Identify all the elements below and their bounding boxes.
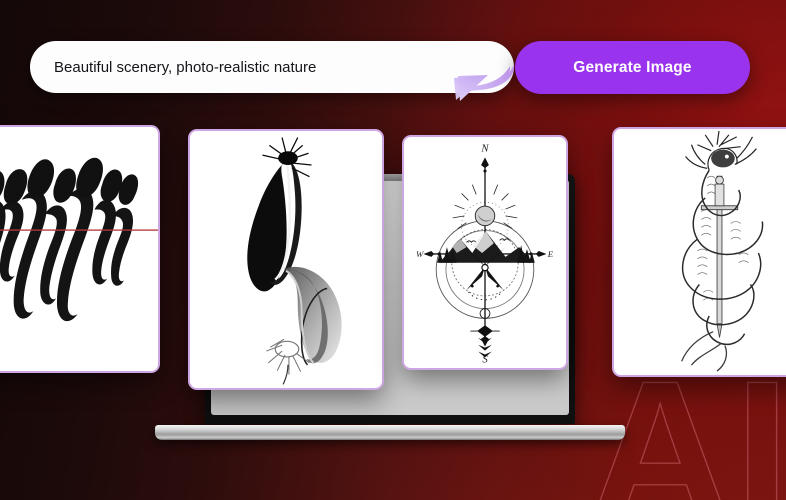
svg-text:W: W — [416, 249, 424, 259]
gallery-card-dragon[interactable] — [612, 127, 786, 377]
compass-mountain-tattoo-icon: N S W E — [404, 137, 566, 368]
gallery-card-amore[interactable] — [0, 125, 160, 373]
gallery-card-compass[interactable]: N S W E — [402, 135, 568, 370]
prompt-bar — [30, 41, 514, 93]
svg-text:N: N — [480, 142, 489, 154]
prompt-input[interactable] — [30, 41, 514, 93]
svg-text:E: E — [547, 249, 554, 259]
app-stage: AI — [0, 0, 786, 500]
amore-calligraphy-tattoo-icon — [0, 127, 158, 371]
dragon-sword-tattoo-icon — [614, 129, 786, 375]
twin-feathers-tattoo-icon — [190, 131, 382, 388]
gallery-card-feathers[interactable] — [188, 129, 384, 390]
generate-image-button[interactable]: Generate Image — [515, 41, 750, 94]
